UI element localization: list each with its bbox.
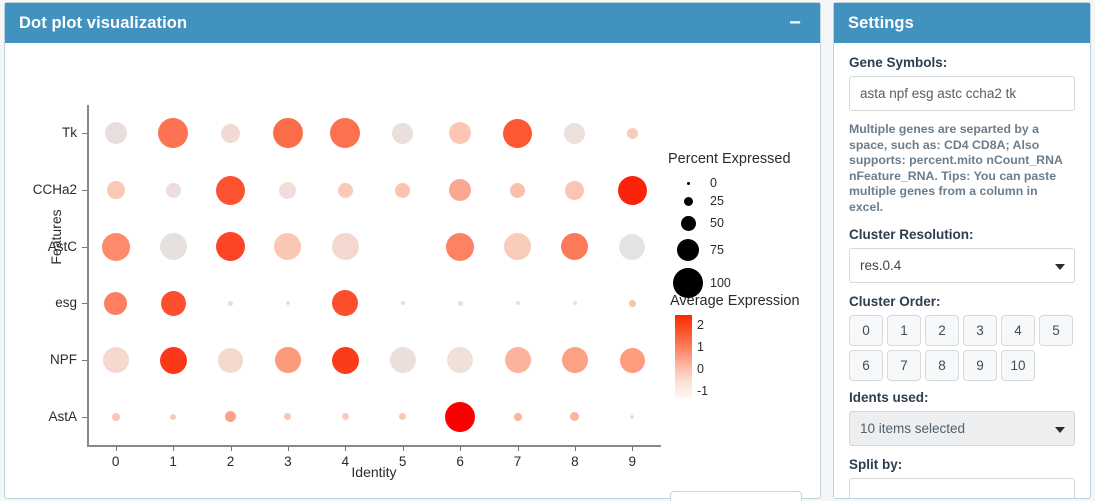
- color-legend-tick-0: 0: [697, 362, 704, 376]
- dot-CCHa2-3: [279, 182, 296, 199]
- settings-panel-header: Settings: [834, 3, 1090, 43]
- dot-esg-4: [332, 290, 358, 316]
- cluster-order-chip-7[interactable]: 7: [887, 350, 921, 381]
- cluster-order-chip-6[interactable]: 6: [849, 350, 883, 381]
- dot-AstC-2: [216, 232, 245, 261]
- dot-Tk-4: [330, 118, 360, 148]
- dot-esg-8: [573, 301, 577, 305]
- x-axis-tick-mark: [460, 446, 461, 451]
- size-legend-label: 25: [710, 194, 724, 208]
- size-legend-dot-0: [687, 182, 690, 185]
- dot-Tk-9: [627, 128, 638, 139]
- y-axis-line: [87, 105, 89, 446]
- y-axis-tick-mark: [82, 360, 87, 361]
- color-legend-tick-1: 1: [697, 340, 704, 354]
- cluster-order-label: Cluster Order:: [849, 294, 1075, 309]
- x-axis-tick-mark: [116, 446, 117, 451]
- dot-esg-7: [516, 301, 520, 305]
- y-axis-tick-label: CCHa2: [7, 183, 77, 197]
- dot-CCHa2-0: [107, 181, 125, 199]
- size-legend-label: 0: [710, 176, 717, 190]
- dot-AstA-3: [284, 413, 291, 420]
- dot-AstA-7: [514, 413, 522, 421]
- color-legend-bar: [675, 315, 692, 397]
- dot-CCHa2-7: [510, 183, 525, 198]
- dot-esg-6: [458, 301, 463, 306]
- gene-symbols-label: Gene Symbols:: [849, 55, 1075, 70]
- dot-esg-0: [104, 292, 127, 315]
- dot-CCHa2-9: [618, 176, 647, 205]
- y-axis-tick-mark: [82, 303, 87, 304]
- x-axis-tick-mark: [518, 446, 519, 451]
- x-axis-tick-mark: [173, 446, 174, 451]
- x-axis-tick-label: 7: [503, 454, 533, 469]
- minimize-icon[interactable]: −: [784, 12, 806, 34]
- dot-esg-1: [161, 291, 186, 316]
- x-axis-tick-label: 0: [101, 454, 131, 469]
- dot-AstC-5: [389, 233, 416, 260]
- dot-AstC-9: [619, 234, 645, 260]
- dot-CCHa2-2: [216, 176, 245, 205]
- x-axis-tick-label: 5: [388, 454, 418, 469]
- dot-AstA-4: [342, 413, 349, 420]
- cluster-order-chip-0[interactable]: 0: [849, 315, 883, 346]
- y-axis-tick-mark: [82, 247, 87, 248]
- idents-used-label: Idents used:: [849, 390, 1075, 405]
- dot-AstA-0: [112, 413, 120, 421]
- dot-AstC-6: [446, 233, 474, 261]
- y-axis-tick-label: Tk: [7, 126, 77, 140]
- size-legend-title: Percent Expressed: [668, 151, 791, 167]
- size-legend-dot-50: [681, 216, 696, 231]
- settings-title: Settings: [848, 14, 1076, 33]
- dot-NPF-9: [620, 348, 645, 373]
- dot-AstA-6: [445, 402, 475, 432]
- dot-plot-panel-body: Features Identity TkCCHa2AstCesgNPFAstA …: [5, 43, 820, 498]
- dot-esg-3: [286, 301, 290, 305]
- cluster-order-list: 012345678910: [849, 315, 1075, 381]
- x-axis-tick-label: 2: [216, 454, 246, 469]
- x-axis-tick-label: 8: [560, 454, 590, 469]
- cluster-order-chip-9[interactable]: 9: [963, 350, 997, 381]
- x-axis-tick-label: 9: [617, 454, 647, 469]
- gene-symbols-helper-text: Multiple genes are separted by a space, …: [849, 122, 1075, 215]
- size-legend-label: 100: [710, 276, 731, 290]
- dot-Tk-7: [503, 119, 532, 148]
- dot-NPF-3: [275, 347, 301, 373]
- dot-plot-chart: Features Identity TkCCHa2AstCesgNPFAstA …: [5, 43, 822, 500]
- dot-Tk-5: [392, 123, 413, 144]
- x-axis-tick-label: 1: [158, 454, 188, 469]
- dot-Tk-3: [273, 118, 303, 148]
- dot-CCHa2-4: [338, 183, 353, 198]
- cluster-order-chip-5[interactable]: 5: [1039, 315, 1073, 346]
- cluster-order-chip-4[interactable]: 4: [1001, 315, 1035, 346]
- dot-AstC-7: [504, 233, 531, 260]
- y-axis-tick-label: AstA: [7, 410, 77, 424]
- dot-Tk-6: [449, 122, 471, 144]
- cluster-order-chip-8[interactable]: 8: [925, 350, 959, 381]
- dot-plot-panel: Dot plot visualization − Features Identi…: [4, 2, 821, 499]
- cluster-resolution-select[interactable]: res.0.4: [849, 248, 1075, 283]
- dot-CCHa2-6: [449, 179, 471, 201]
- x-axis-tick-label: 4: [330, 454, 360, 469]
- dot-AstA-2: [225, 411, 236, 422]
- page-title: Dot plot visualization: [19, 14, 784, 33]
- y-axis-tick-label: NPF: [7, 353, 77, 367]
- dot-Tk-0: [105, 122, 127, 144]
- cluster-order-chip-3[interactable]: 3: [963, 315, 997, 346]
- x-axis-tick-label: 6: [445, 454, 475, 469]
- x-axis-tick-mark: [575, 446, 576, 451]
- y-axis-tick-mark: [82, 133, 87, 134]
- cluster-resolution-label: Cluster Resolution:: [849, 227, 1075, 242]
- size-legend-label: 50: [710, 216, 724, 230]
- size-legend-dot-75: [677, 239, 699, 261]
- split-by-input[interactable]: [849, 478, 1075, 498]
- dot-NPF-8: [562, 347, 588, 373]
- dot-Tk-8: [564, 123, 585, 144]
- dot-AstC-1: [160, 233, 187, 260]
- y-axis-tick-label: esg: [7, 296, 77, 310]
- color-legend-title: Average Expression: [670, 293, 800, 309]
- dot-esg-9: [629, 300, 636, 307]
- dot-Tk-1: [158, 118, 188, 148]
- dot-NPF-0: [103, 347, 129, 373]
- dot-esg-5: [401, 301, 405, 305]
- cluster-resolution-value: res.0.4: [860, 258, 901, 273]
- size-legend-label: 75: [710, 243, 724, 257]
- y-axis-tick-mark: [82, 190, 87, 191]
- x-axis-tick-mark: [632, 446, 633, 451]
- dot-CCHa2-5: [395, 183, 410, 198]
- chevron-down-icon: [1055, 264, 1065, 270]
- dot-AstC-3: [274, 233, 301, 260]
- y-axis-tick-mark: [82, 417, 87, 418]
- cluster-order-chip-10[interactable]: 10: [1001, 350, 1035, 381]
- chevron-down-icon: [1055, 427, 1065, 433]
- x-axis-tick-mark: [403, 446, 404, 451]
- gene-symbols-input[interactable]: [849, 76, 1075, 111]
- split-by-label: Split by:: [849, 457, 1075, 472]
- x-axis-tick-mark: [231, 446, 232, 451]
- y-axis-title: Features: [48, 192, 64, 282]
- x-axis-tick-mark: [288, 446, 289, 451]
- dot-NPF-5: [390, 347, 416, 373]
- dot-plot-panel-header: Dot plot visualization −: [5, 3, 820, 43]
- dot-Tk-2: [221, 124, 240, 143]
- dot-AstA-5: [399, 413, 406, 420]
- dot-CCHa2-8: [565, 181, 584, 200]
- dot-esg-2: [228, 301, 233, 306]
- dot-NPF-4: [332, 347, 359, 374]
- download-button[interactable]: Download: [670, 491, 802, 501]
- cluster-order-chip-2[interactable]: 2: [925, 315, 959, 346]
- dot-AstA-1: [170, 414, 176, 420]
- x-axis-tick-mark: [345, 446, 346, 451]
- settings-panel: Settings Gene Symbols: Multiple genes ar…: [833, 2, 1091, 499]
- idents-used-select[interactable]: 10 items selected: [849, 411, 1075, 446]
- dot-AstC-0: [102, 233, 130, 261]
- dot-AstC-8: [561, 233, 588, 260]
- app-root: Dot plot visualization − Features Identi…: [0, 0, 1095, 501]
- x-axis-tick-label: 3: [273, 454, 303, 469]
- color-legend-tick-2: 2: [697, 318, 704, 332]
- dot-AstA-9: [630, 415, 634, 419]
- dot-NPF-6: [447, 347, 473, 373]
- y-axis-tick-label: AstC: [7, 240, 77, 254]
- dot-NPF-1: [160, 347, 187, 374]
- idents-used-value: 10 items selected: [860, 421, 965, 436]
- cluster-order-chip-1[interactable]: 1: [887, 315, 921, 346]
- size-legend-dot-25: [684, 197, 693, 206]
- dot-CCHa2-1: [166, 183, 181, 198]
- color-legend-tick--1: -1: [697, 384, 708, 398]
- dot-AstC-4: [332, 233, 359, 260]
- settings-panel-body: Gene Symbols: Multiple genes are separte…: [834, 43, 1090, 498]
- dot-NPF-7: [505, 347, 531, 373]
- dot-NPF-2: [218, 348, 243, 373]
- dot-AstA-8: [570, 412, 579, 421]
